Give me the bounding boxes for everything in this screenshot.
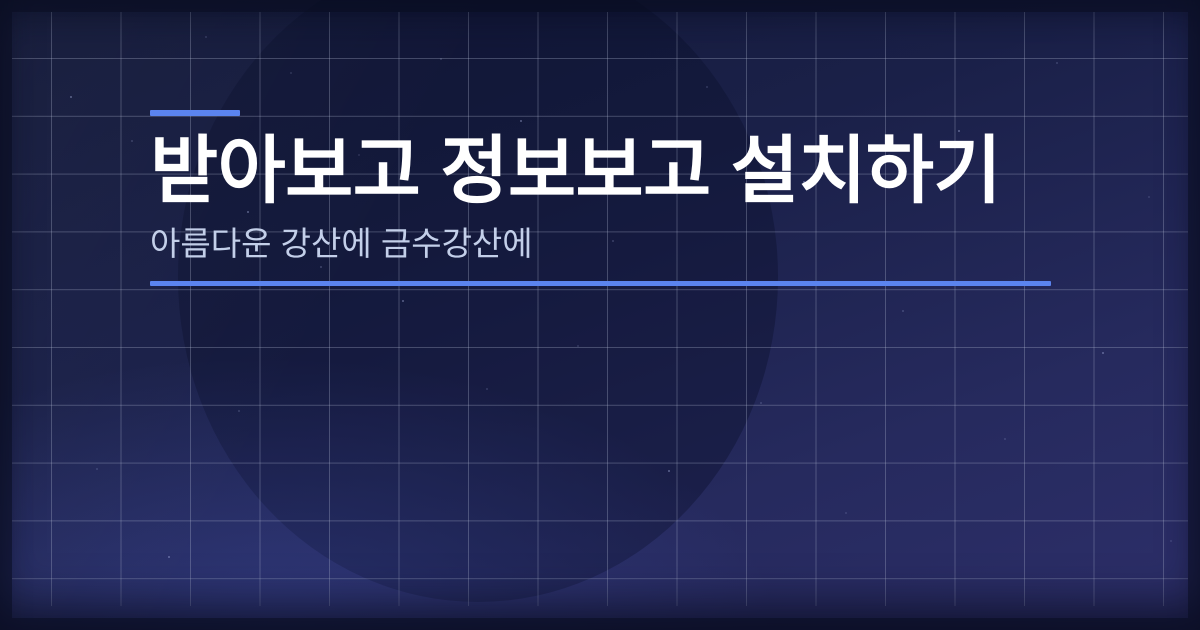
page-title: 받아보고 정보보고 설치하기	[150, 130, 1001, 213]
cover-canvas: 받아보고 정보보고 설치하기 아름다운 강산에 금수강산에	[0, 0, 1200, 630]
divider-rule	[150, 281, 1051, 286]
accent-bar	[150, 110, 240, 116]
cover-content: 받아보고 정보보고 설치하기 아름다운 강산에 금수강산에	[150, 0, 1150, 630]
page-subtitle: 아름다운 강산에 금수강산에	[150, 224, 533, 264]
